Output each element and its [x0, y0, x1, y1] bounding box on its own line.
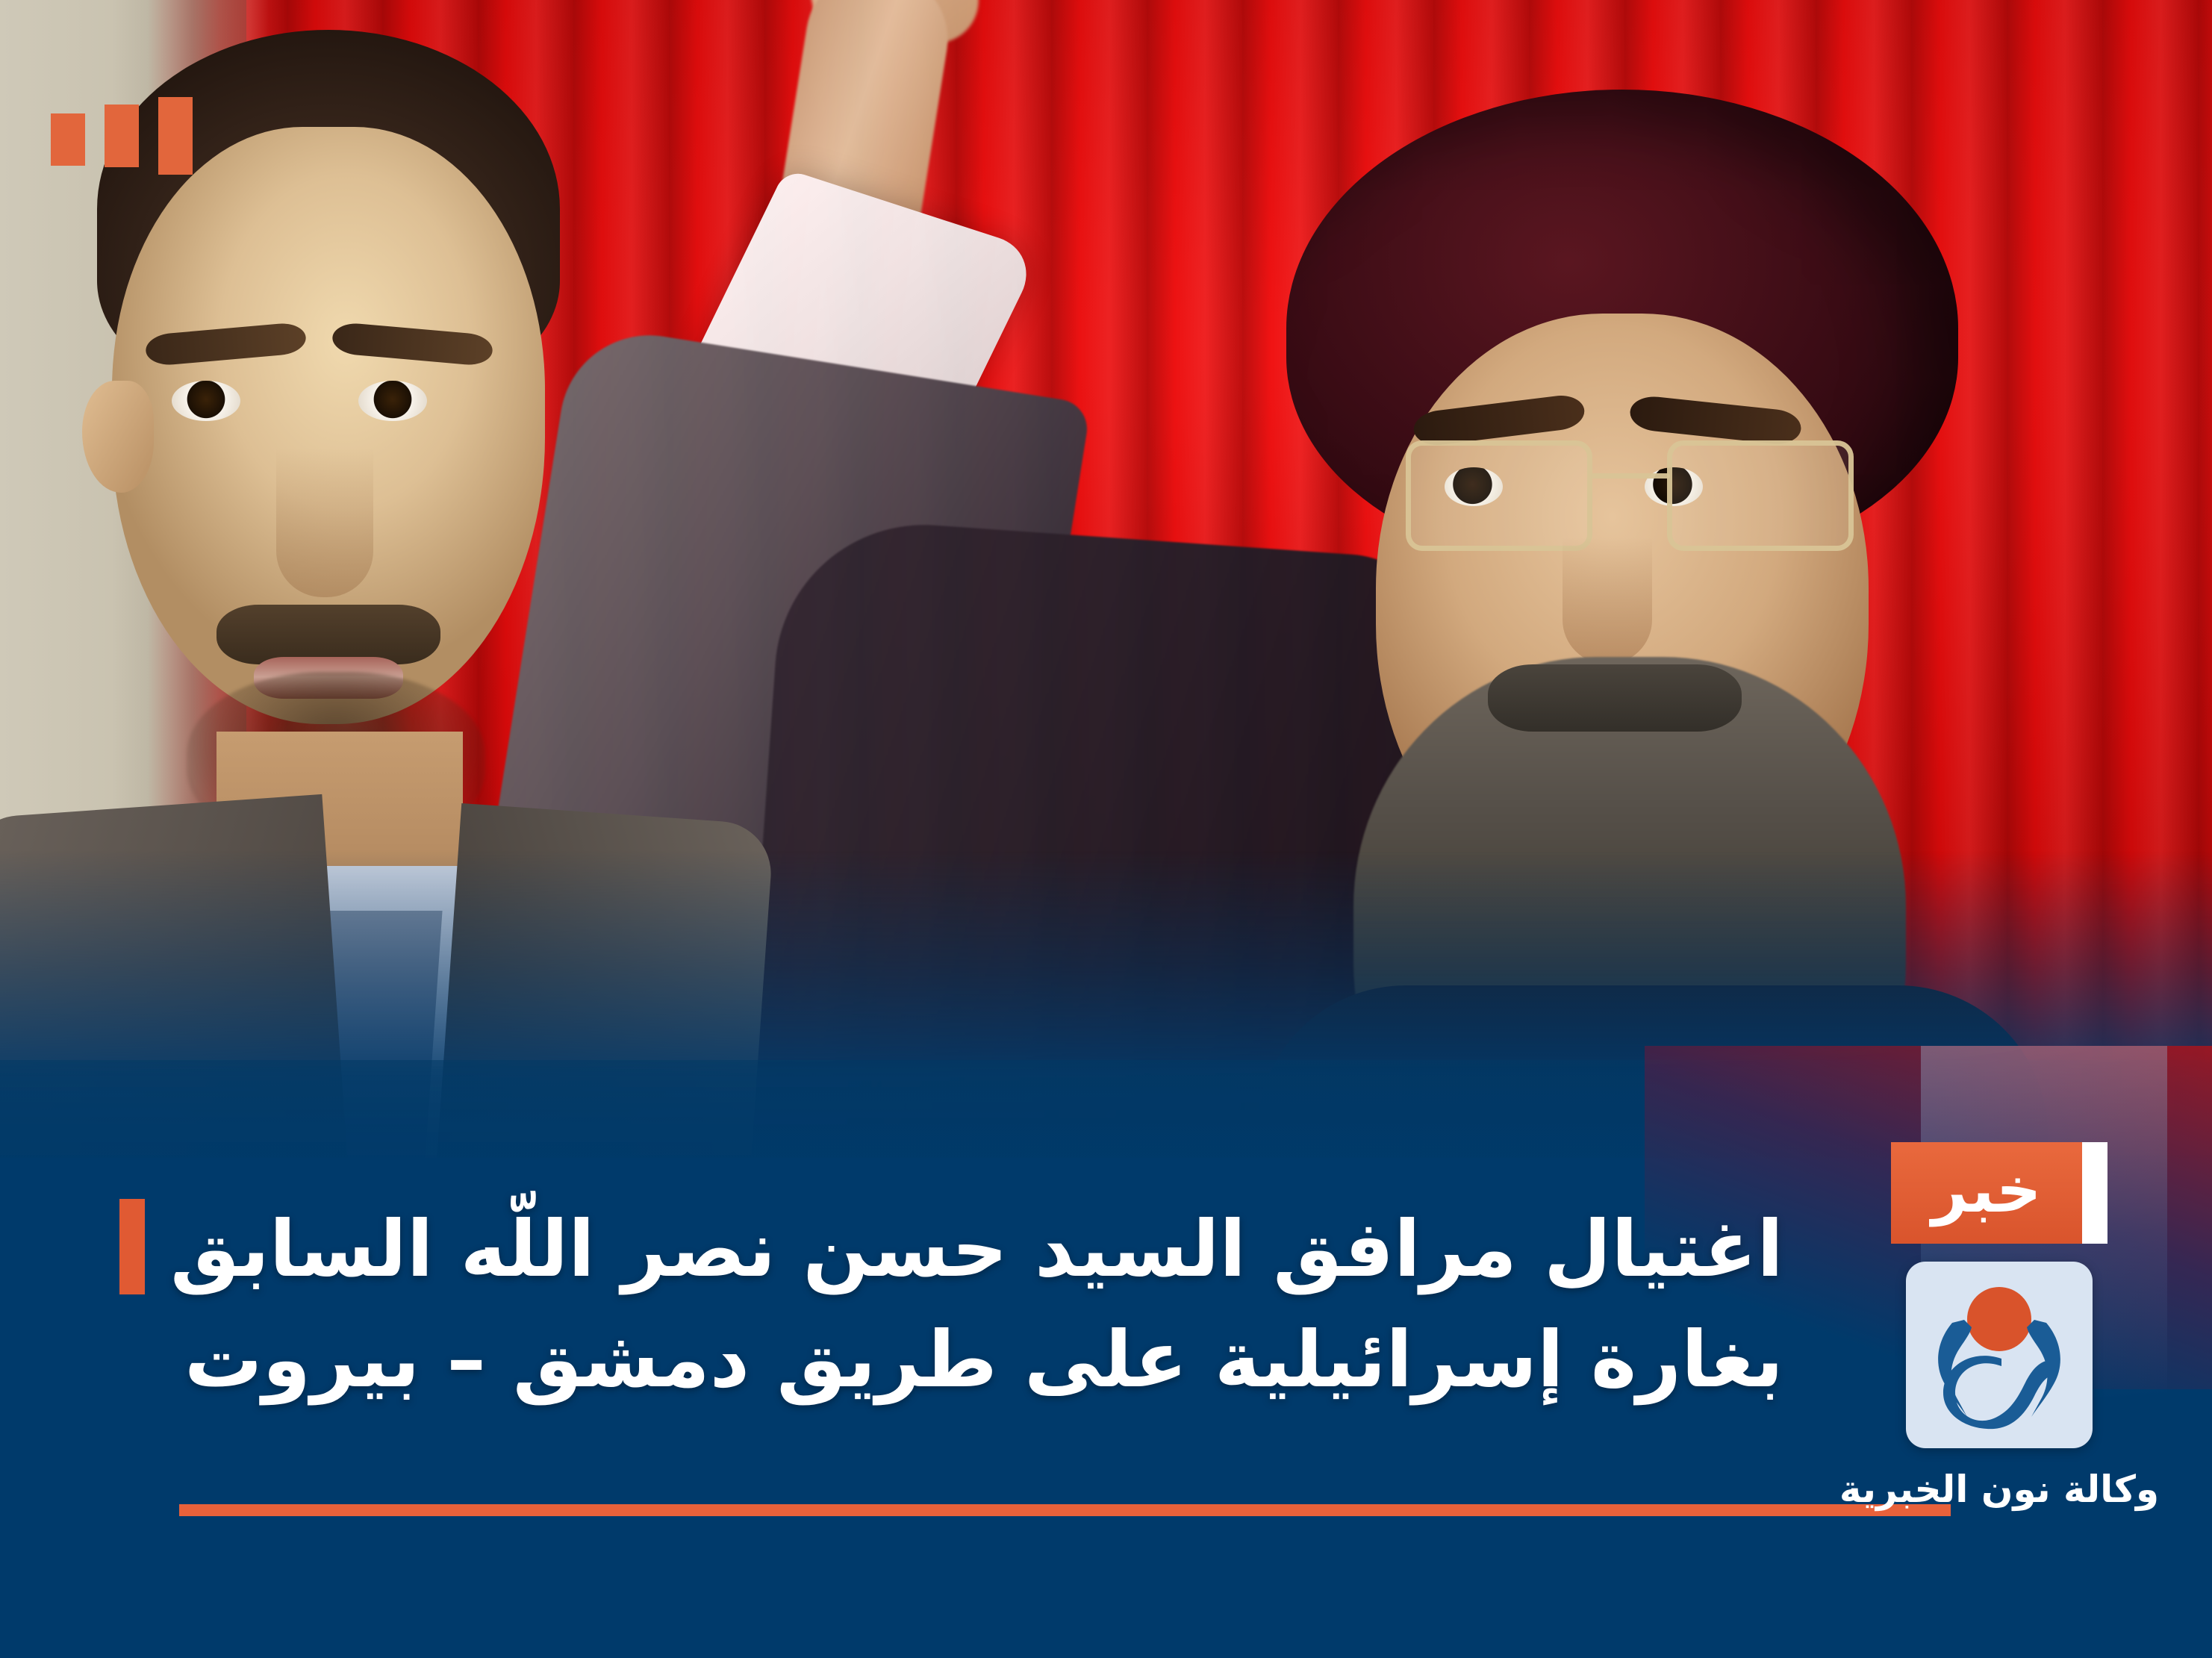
headline-line-1: اغتيال مرافق السيد حسن نصر اللّه السابق [170, 1203, 1783, 1294]
headline-line-2: بغارة إسرائيلية على طريق دمشق – بيروت [170, 1305, 1783, 1415]
corner-tick-marks [51, 97, 193, 175]
tick-medium-icon [105, 105, 139, 167]
agency-name: وكالة نون الخبرية [1839, 1468, 2159, 1511]
page-title: اغتيال مرافق السيد حسن نصر اللّه السابق … [170, 1194, 1783, 1415]
tick-short-icon [51, 113, 85, 166]
orange-divider [179, 1504, 1951, 1516]
brand-block: خبر وكالة نون الخبرية [1846, 1142, 2152, 1511]
news-photo [0, 0, 2212, 1165]
noon-agency-logo-icon [1906, 1262, 2093, 1448]
badge-label: خبر [1891, 1142, 2081, 1244]
news-badge: خبر [1891, 1142, 2107, 1244]
tick-tall-icon [158, 97, 193, 175]
photo-soft-focus [0, 0, 2212, 1165]
badge-white-flag-icon [2082, 1142, 2107, 1244]
headline-accent-bar-icon [119, 1199, 145, 1294]
headline-block: اغتيال مرافق السيد حسن نصر اللّه السابق … [119, 1194, 2025, 1415]
news-card: اغتيال مرافق السيد حسن نصر اللّه السابق … [0, 0, 2212, 1658]
